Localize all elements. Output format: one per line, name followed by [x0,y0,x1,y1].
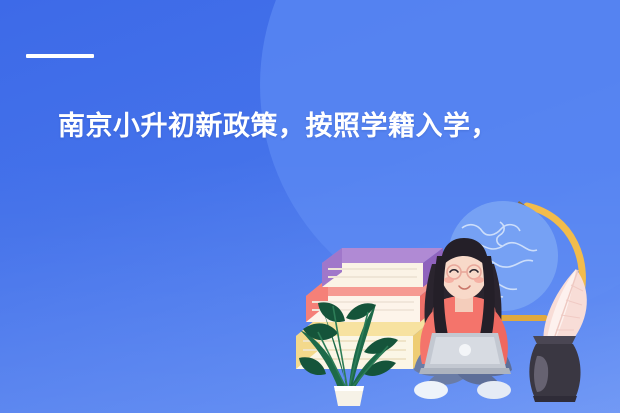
title-divider-rule [26,54,94,58]
page-title: 南京小升初新政策，按照学籍入学， [58,106,598,146]
banner-image: 南京小升初新政策，按照学籍入学， [0,0,620,413]
background-sheen [0,157,620,413]
